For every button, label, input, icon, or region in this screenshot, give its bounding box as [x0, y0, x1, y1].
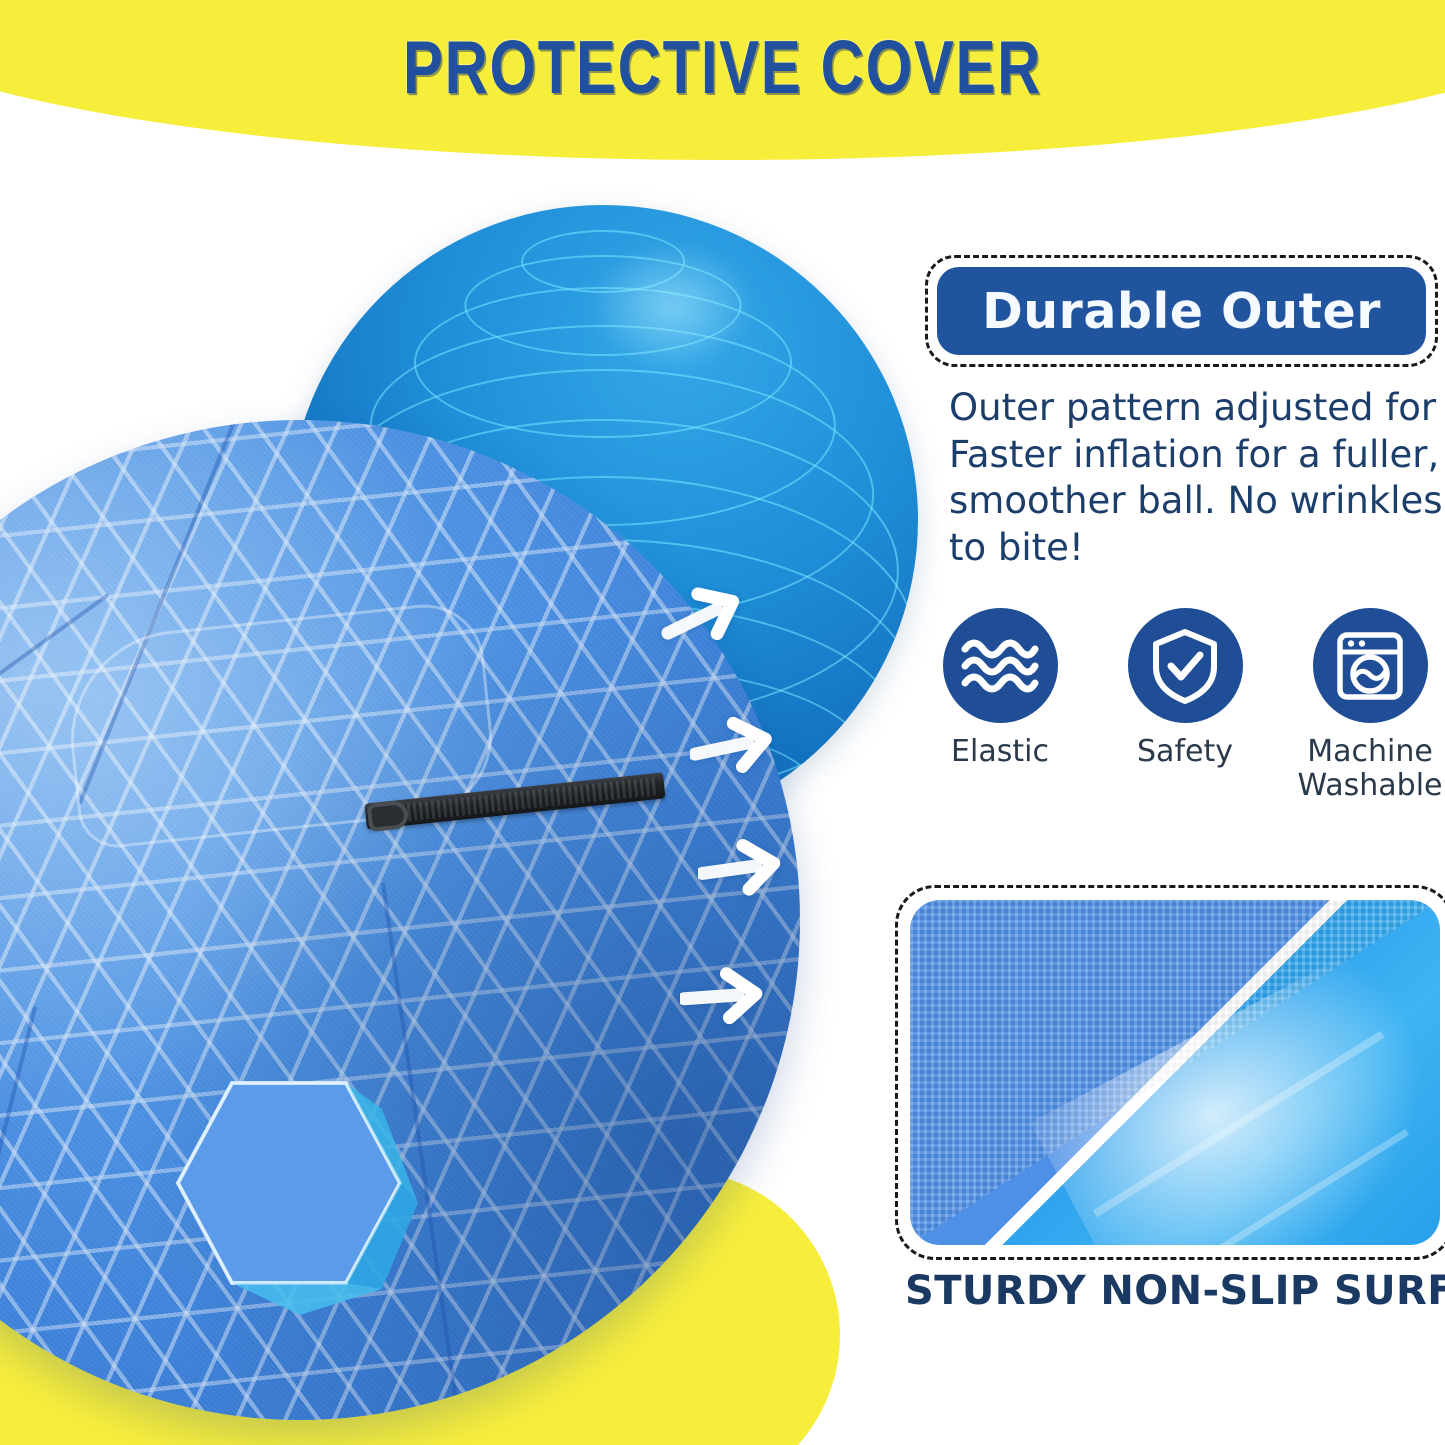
hexagon-lift-detail: [150, 1065, 420, 1315]
flow-arrow-icon: [690, 710, 776, 782]
feature-machine-washable: Machine Washable: [1295, 608, 1445, 802]
flow-arrow-icon: [698, 832, 784, 904]
flow-arrow-icon: [660, 580, 746, 652]
feature-safety: Safety: [1110, 608, 1260, 802]
feature-label: Elastic: [925, 735, 1075, 769]
shield-check-icon: [1128, 608, 1243, 723]
surface-comparison-image: [910, 900, 1440, 1245]
right-info-column: Durable Outer Outer pattern adjusted for…: [905, 0, 1445, 1445]
ball-highlight-top: [590, 243, 754, 369]
feature-elastic: Elastic: [925, 608, 1075, 802]
feature-icon-row: Elastic Safety: [925, 608, 1445, 802]
waves-icon: [943, 608, 1058, 723]
product-photo-area: [0, 120, 940, 1410]
product-infographic: PROTECTIVE COVER: [0, 0, 1445, 1445]
description-paragraph: Outer pattern adjusted for Faster inflat…: [949, 385, 1445, 571]
washing-machine-icon: [1313, 608, 1428, 723]
feature-label: Safety: [1110, 735, 1260, 769]
feature-label: Machine Washable: [1295, 735, 1445, 802]
durable-outer-badge: Durable Outer: [925, 255, 1438, 367]
non-slip-surface-panel: [895, 885, 1445, 1260]
badge-fill: Durable Outer: [937, 267, 1426, 355]
badge-label: Durable Outer: [982, 283, 1381, 340]
flow-arrow-icon: [680, 960, 766, 1032]
surface-panel-caption: STURDY NON-SLIP SURFACE: [905, 1268, 1445, 1314]
